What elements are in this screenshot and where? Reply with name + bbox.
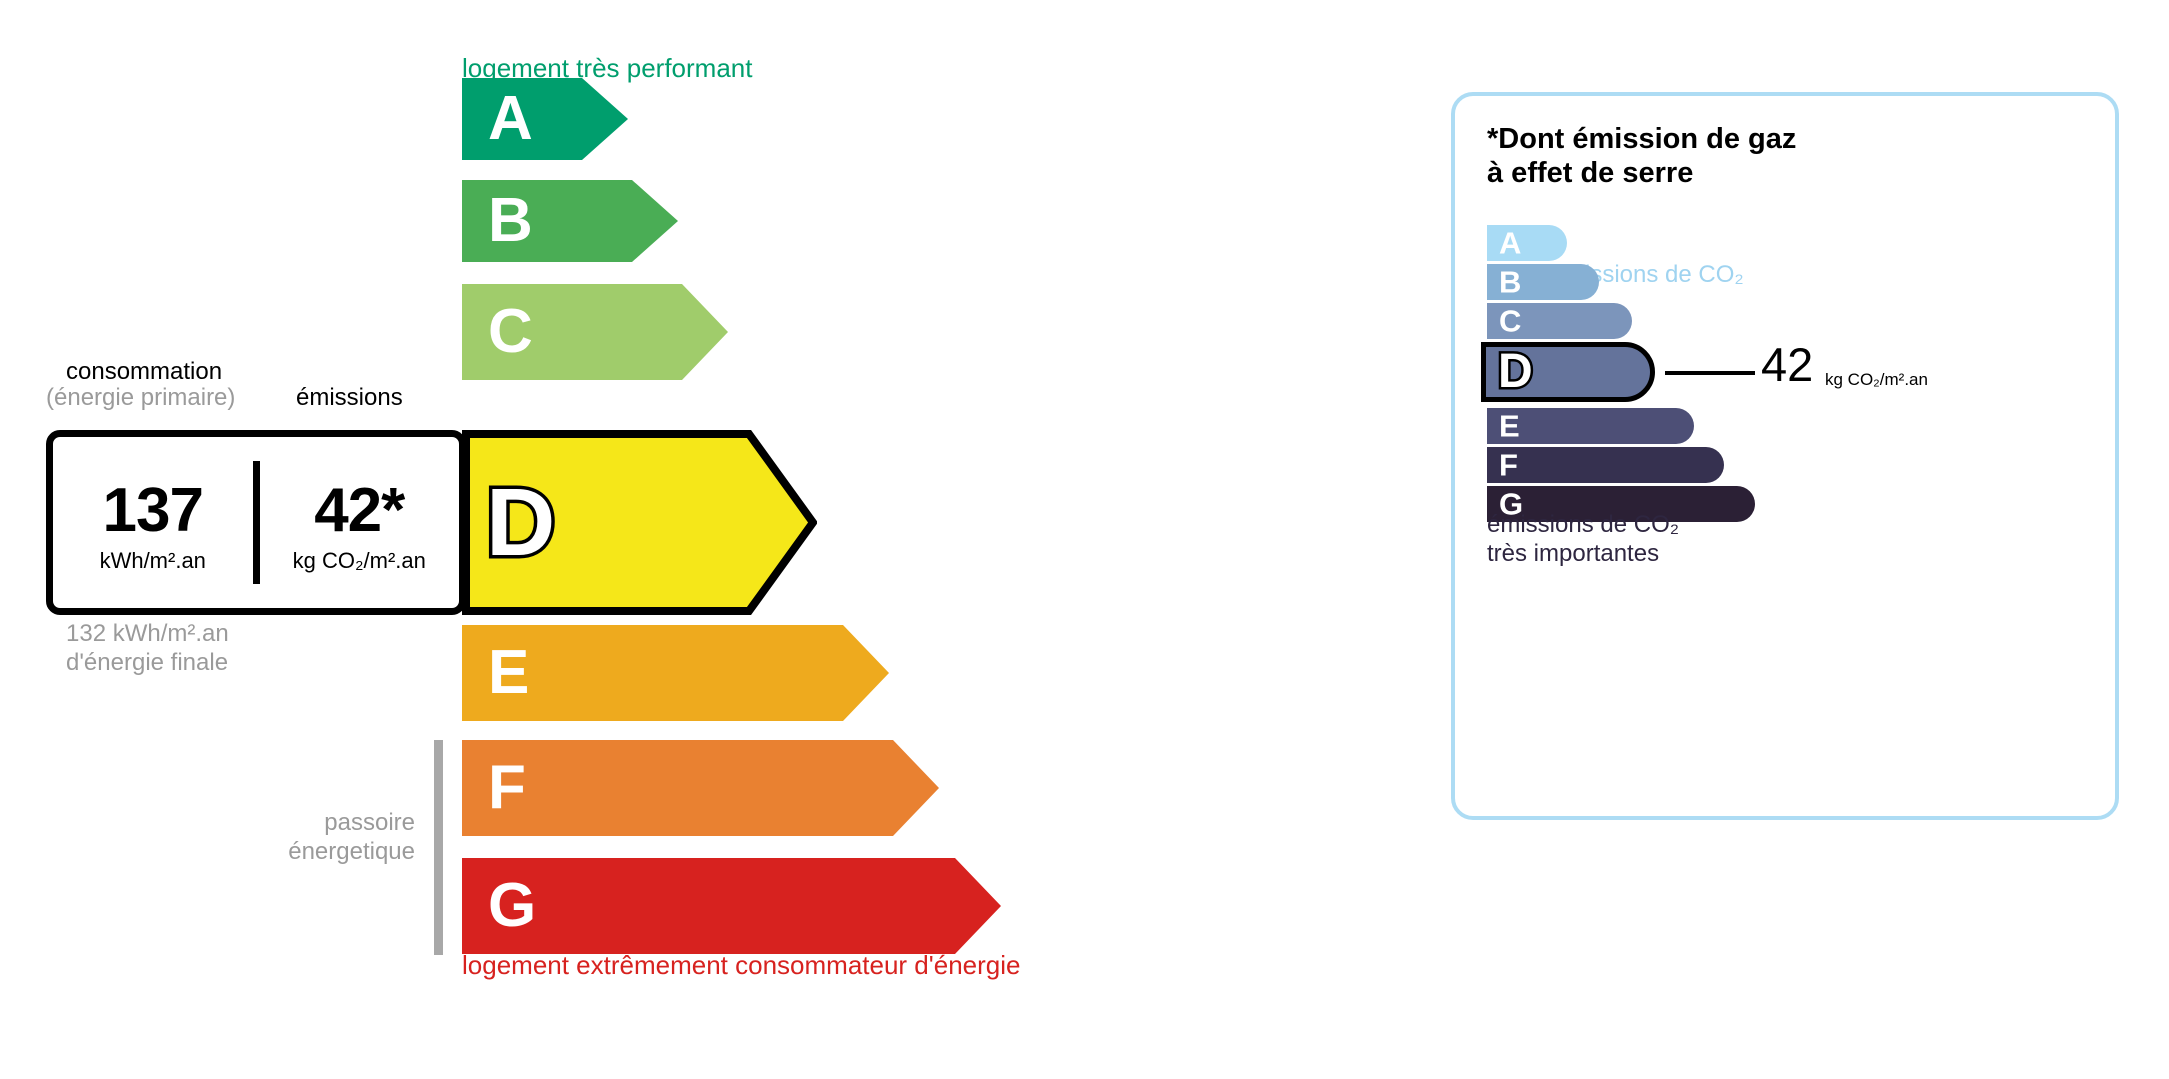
co2-bottom-caption-line2: très importantes <box>1487 540 1679 569</box>
co2-panel-value: 42 <box>1761 341 1813 388</box>
energy-row-c: C <box>462 284 728 380</box>
energy-letter-g: G <box>488 875 536 937</box>
co2-row-e: E <box>1487 408 1694 444</box>
energy-bar-f <box>462 740 893 836</box>
energy-row-g: G <box>462 858 1001 954</box>
co2-row-f: F <box>1487 447 1724 483</box>
energy-scale-panel: logement très performant A B C D <box>0 0 1400 1079</box>
passoire-energetique-label: passoire énergetique <box>220 808 415 867</box>
energy-letter-a: A <box>488 88 533 150</box>
energy-letter-b: B <box>488 190 533 252</box>
co2-title-line1: *Dont émission de gaz <box>1487 122 1796 156</box>
co2-bottom-caption: émissions de CO₂ très importantes <box>1487 511 1679 569</box>
label-energie-primaire: (énergie primaire) <box>46 384 235 412</box>
co2-row-a: A <box>1487 225 1567 261</box>
label-consommation: consommation <box>66 358 222 386</box>
co2-letter-d: D <box>1498 348 1533 396</box>
energy-value: 137 <box>103 480 203 542</box>
energy-row-d-highlighted: D <box>462 430 817 615</box>
energy-row-f: F <box>462 740 939 836</box>
energy-arrowhead-e <box>843 625 889 721</box>
energy-arrowhead-b <box>632 180 678 262</box>
energy-value-cell: 137 kWh/m².an <box>53 437 253 608</box>
passoire-energetique-marker <box>434 740 443 955</box>
scale-bottom-caption: logement extrêmement consommateur d'éner… <box>462 950 1020 981</box>
energy-value-unit: kWh/m².an <box>100 548 206 574</box>
co2-letter-b: B <box>1499 267 1521 298</box>
co2-title-line2: à effet de serre <box>1487 156 1796 190</box>
co2-bottom-caption-line1: émissions de CO₂ <box>1487 511 1679 540</box>
co2-value-cell: 42* kg CO₂/m².an <box>260 437 460 608</box>
energy-letter-d: D <box>486 475 555 571</box>
co2-row-d-highlighted: D <box>1481 342 1655 402</box>
co2-panel: *Dont émission de gaz à effet de serre p… <box>1451 92 2119 820</box>
co2-row-b: B <box>1487 264 1599 300</box>
value-box: 137 kWh/m².an 42* kg CO₂/m².an <box>46 430 466 615</box>
label-emissions: émissions <box>296 384 403 412</box>
passoire-label-line1: passoire <box>220 808 415 837</box>
co2-panel-title: *Dont émission de gaz à effet de serre <box>1487 122 1796 190</box>
co2-letter-e: E <box>1499 411 1520 442</box>
energy-letter-f: F <box>488 757 526 819</box>
energy-row-e: E <box>462 625 889 721</box>
co2-letter-a: A <box>1499 228 1521 259</box>
value-box-divider <box>253 461 260 584</box>
co2-leader-line <box>1665 371 1755 375</box>
energy-arrowhead-c <box>682 284 728 380</box>
co2-value-unit: kg CO₂/m².an <box>293 548 426 574</box>
co2-letter-c: C <box>1499 306 1521 337</box>
energy-arrowhead-g <box>955 858 1001 954</box>
co2-panel-value-unit: kg CO₂/m².an <box>1825 370 1928 390</box>
co2-row-c: C <box>1487 303 1632 339</box>
co2-letter-f: F <box>1499 450 1518 481</box>
energy-letter-c: C <box>488 301 533 363</box>
passoire-label-line2: énergetique <box>220 837 415 866</box>
final-energy-label: 132 kWh/m².an d'énergie finale <box>66 619 229 678</box>
energy-row-b: B <box>462 180 678 262</box>
energy-arrowhead-f <box>893 740 939 836</box>
energy-letter-e: E <box>488 642 529 704</box>
final-energy-line1: 132 kWh/m².an <box>66 619 229 648</box>
energy-arrowhead-a <box>582 78 628 160</box>
energy-row-a: A <box>462 78 628 160</box>
final-energy-line2: d'énergie finale <box>66 648 229 677</box>
co2-value: 42* <box>314 480 404 542</box>
